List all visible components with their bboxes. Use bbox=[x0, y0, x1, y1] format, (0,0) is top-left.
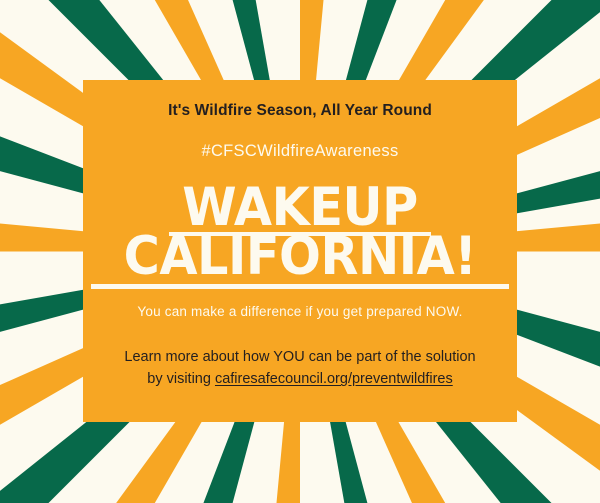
cta-prefix: by visiting bbox=[147, 371, 215, 387]
website-link[interactable]: cafiresafecouncil.org/preventwildfires bbox=[215, 371, 453, 387]
headline-line-2: CALIFORNIA! bbox=[98, 233, 502, 282]
headline-divider-rule bbox=[169, 232, 431, 236]
hashtag: #CFSCWildfireAwareness bbox=[83, 142, 517, 161]
headline-bottom-rule bbox=[91, 284, 509, 289]
cta-line-2: by visiting cafiresafecouncil.org/preven… bbox=[83, 368, 517, 390]
cta-line-1: Learn more about how YOU can be part of … bbox=[83, 346, 517, 368]
call-to-action: Learn more about how YOU can be part of … bbox=[83, 346, 517, 391]
wildfire-awareness-poster: It's Wildfire Season, All Year Round #CF… bbox=[0, 0, 600, 503]
subheadline: You can make a difference if you get pre… bbox=[83, 304, 517, 319]
message-card: It's Wildfire Season, All Year Round #CF… bbox=[83, 80, 517, 422]
tagline: It's Wildfire Season, All Year Round bbox=[83, 102, 517, 120]
